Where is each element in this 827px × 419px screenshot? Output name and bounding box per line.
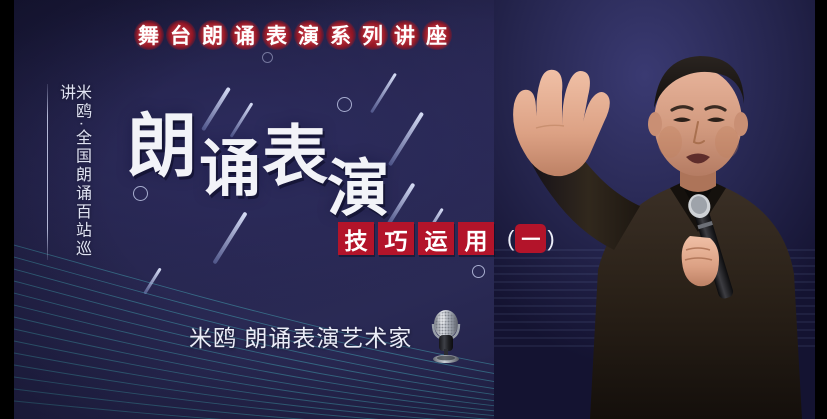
series-headline-char: 讲 [389, 18, 420, 51]
letterbox-bar-left [0, 0, 14, 419]
decor-ring-1 [337, 97, 352, 112]
subtitle-part-number: ( 一 ) [507, 224, 555, 253]
title-card-stage: 舞 台 朗 诵 表 演 系 列 讲 座 米鸥·全国朗诵百站巡讲 朗 诵 表 演 … [0, 0, 827, 419]
paren-close: ) [547, 226, 554, 252]
paren-open: ( [507, 226, 514, 252]
presenter-line: 米鸥 朗诵表演艺术家 [189, 308, 466, 364]
main-title-char-3: 表 [262, 124, 328, 190]
series-headline: 舞 台 朗 诵 表 演 系 列 讲 座 [133, 18, 452, 51]
main-title-char-4: 演 [327, 158, 389, 220]
subtitle: 技 巧 运 用 ( 一 ) [338, 222, 555, 255]
part-number-value: 一 [515, 224, 546, 253]
side-label-text: 米鸥·全国朗诵百站巡讲 [57, 84, 89, 260]
series-headline-char: 台 [165, 18, 196, 51]
series-headline-char: 表 [261, 18, 292, 51]
main-title-char-1: 朗 [127, 111, 197, 181]
subtitle-box-char: 技 [338, 222, 374, 255]
speaker-photo [494, 0, 815, 419]
letterbox-bar-right [815, 0, 827, 419]
subtitle-box-char: 运 [418, 222, 454, 255]
side-label-rule [47, 84, 48, 260]
microphone-icon [426, 308, 466, 364]
series-headline-char: 诵 [229, 18, 260, 51]
presenter-name-and-title: 米鸥 朗诵表演艺术家 [189, 319, 412, 353]
series-headline-char: 座 [421, 18, 452, 51]
series-headline-char: 朗 [197, 18, 228, 51]
series-headline-char: 列 [357, 18, 388, 51]
decor-ring-2 [133, 186, 148, 201]
decor-ring-4 [262, 52, 273, 63]
decor-ring-3 [472, 265, 485, 278]
subtitle-box-char: 用 [458, 222, 494, 255]
side-label: 米鸥·全国朗诵百站巡讲 [47, 84, 89, 260]
series-headline-char: 演 [293, 18, 324, 51]
series-headline-char: 系 [325, 18, 356, 51]
subtitle-box-char: 巧 [378, 222, 414, 255]
main-title-char-2: 诵 [199, 138, 261, 200]
series-headline-char: 舞 [133, 18, 164, 51]
